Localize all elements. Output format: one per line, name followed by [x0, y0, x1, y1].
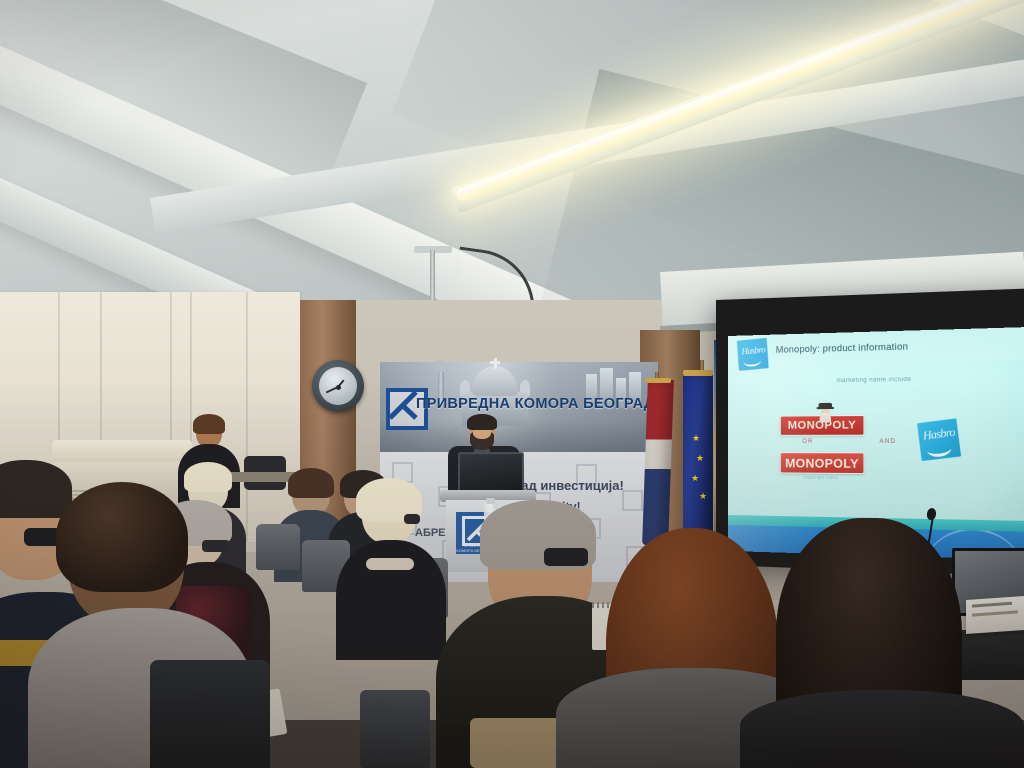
temple-cross-icon	[490, 361, 500, 364]
flag-valance	[683, 370, 713, 376]
person-hair	[0, 460, 72, 518]
eu-flag-icon: ★ ★ ★ ★	[683, 372, 713, 542]
connector-and-label: AND	[879, 439, 896, 445]
clock-center-pin	[336, 385, 341, 390]
person-hair-blonde	[184, 462, 232, 492]
chair	[150, 660, 270, 768]
monopoly-logo-secondary: MONOPOLY	[780, 452, 865, 474]
person-hair	[288, 468, 334, 498]
monopoly-wordmark: MONOPOLY	[781, 456, 864, 471]
banner-title: ПРИВРЕДНА КОМОРА БЕОГРАДА	[416, 396, 666, 412]
chair	[360, 690, 430, 768]
hasbro-logo-icon: Hasbro	[737, 338, 769, 371]
person-hair-curly	[56, 482, 188, 592]
glasses-icon	[404, 514, 420, 524]
glasses-icon	[202, 540, 230, 552]
vertical-blind-slat	[248, 292, 300, 542]
victor-monument-figure	[436, 360, 446, 372]
connector-or-label: OR	[802, 439, 813, 445]
mr-monopoly-icon	[817, 403, 835, 423]
air-conditioner-icon	[52, 440, 192, 464]
conference-room-photo: ПРИВРЕДНА КОМОРА БЕОГРАДА - град инвести…	[0, 0, 1024, 768]
necklace	[366, 558, 414, 570]
name-placard	[966, 596, 1024, 634]
slide-subtitle: marketing name include	[728, 375, 1024, 386]
person-body	[740, 690, 1024, 768]
flag-valance	[645, 378, 671, 383]
bottle-cap	[486, 498, 495, 504]
chair	[256, 524, 300, 570]
speaker-hair	[467, 414, 497, 430]
monopoly-caption: trademark notice	[780, 474, 863, 480]
chamber-logo-slash-icon	[386, 388, 420, 422]
hasbro-logo-icon: Hasbro	[917, 418, 961, 461]
person-hair	[193, 414, 225, 434]
glasses-icon	[544, 548, 588, 566]
